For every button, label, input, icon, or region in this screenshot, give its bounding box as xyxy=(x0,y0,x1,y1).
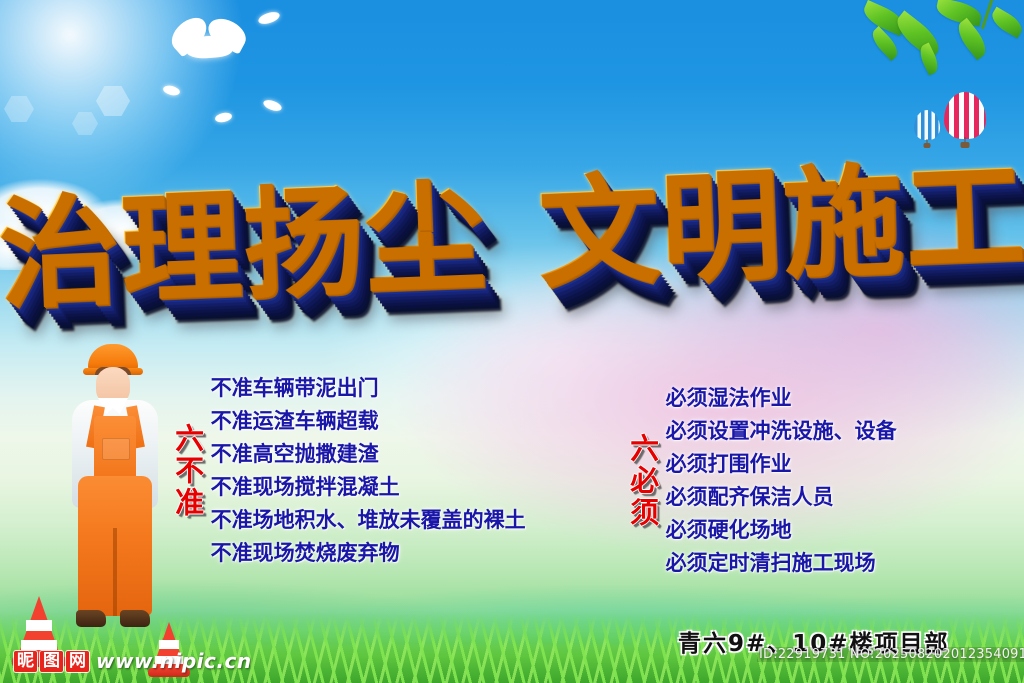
badge-six-requirements: 六必须 xyxy=(627,433,657,529)
overall-bib xyxy=(94,416,136,482)
overall-pants xyxy=(78,476,152,616)
list-item: 必须配齐保洁人员 xyxy=(666,481,897,514)
poster-title: 治理扬尘 文明施工 xyxy=(0,108,1024,362)
list-item: 必须硬化场地 xyxy=(666,514,897,547)
list-item: 不准现场搅拌混凝土 xyxy=(211,471,526,504)
id-watermark: ID:22919731 NO:20250820201235409103 xyxy=(757,647,1024,662)
six-prohibitions-block: 六不准 不准车辆带泥出门 不准运渣车辆超载 不准高空抛撒建渣 不准现场搅拌混凝土… xyxy=(172,372,526,570)
shoe xyxy=(76,610,106,627)
dove-icon xyxy=(162,84,181,97)
list-item: 必须打围作业 xyxy=(666,448,897,481)
title-part-1: 治理扬尘 xyxy=(0,177,488,316)
shoe xyxy=(120,610,150,627)
poster-canvas: 治理扬尘 文明施工 六不准 不准车辆带泥出门 不准运渣车辆超载 不准高空抛撒 xyxy=(0,0,1024,683)
watermark-logo: 昵 图 网 xyxy=(14,651,89,672)
list-item: 不准现场焚烧废弃物 xyxy=(211,537,526,570)
list-item: 不准运渣车辆超载 xyxy=(211,405,526,438)
badge-six-prohibitions: 六不准 xyxy=(172,423,202,519)
watermark-char: 网 xyxy=(66,651,89,672)
watermark-url: www.nipic.cn xyxy=(96,649,252,673)
list-item: 必须湿法作业 xyxy=(666,382,897,415)
dove-icon xyxy=(185,34,232,59)
site-watermark: 昵 图 网 www.nipic.cn xyxy=(14,649,252,673)
prohibition-list: 不准车辆带泥出门 不准运渣车辆超载 不准高空抛撒建渣 不准现场搅拌混凝土 不准场… xyxy=(211,372,526,570)
six-requirements-block: 六必须 必须湿法作业 必须设置冲洗设施、设备 必须打围作业 必须配齐保洁人员 必… xyxy=(627,382,897,580)
hex-flake-icon xyxy=(96,86,130,116)
list-item: 不准场地积水、堆放未覆盖的裸土 xyxy=(211,504,526,537)
list-item: 不准高空抛撒建渣 xyxy=(211,438,526,471)
requirement-list: 必须湿法作业 必须设置冲洗设施、设备 必须打围作业 必须配齐保洁人员 必须硬化场… xyxy=(666,382,897,580)
dove-icon xyxy=(214,111,232,123)
dove-icon xyxy=(257,10,281,26)
watermark-char: 昵 xyxy=(14,651,37,672)
list-item: 不准车辆带泥出门 xyxy=(211,372,526,405)
construction-worker-illustration xyxy=(62,344,170,644)
list-item: 必须定时清扫施工现场 xyxy=(666,547,897,580)
title-part-2: 文明施工 xyxy=(536,156,1024,295)
watermark-char: 图 xyxy=(40,651,63,672)
list-item: 必须设置冲洗设施、设备 xyxy=(666,415,897,448)
dove-icon xyxy=(262,98,283,113)
hex-flake-icon xyxy=(4,96,34,122)
leaf-icon xyxy=(988,7,1024,39)
leaf-icon xyxy=(953,18,992,61)
